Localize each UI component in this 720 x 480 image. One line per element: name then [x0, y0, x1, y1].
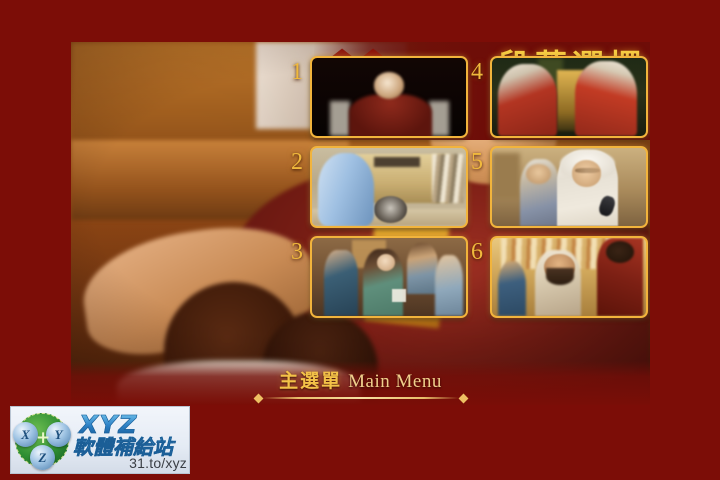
scene-3-number: 3 — [286, 240, 308, 264]
scene-2-number: 2 — [286, 150, 308, 174]
main-menu-label-chinese: 主選單 — [279, 366, 342, 393]
menu-underline-decoration — [255, 395, 467, 400]
scene-4-number: 4 — [466, 60, 488, 84]
scene-3-thumbnail[interactable] — [310, 236, 468, 318]
scene-4-thumbnail[interactable] — [490, 56, 648, 138]
scene-2-thumbnail[interactable] — [310, 146, 468, 228]
scene-1-thumbnail[interactable] — [310, 56, 468, 138]
logo-plus-icon: + — [36, 432, 49, 445]
scene-5-number: 5 — [466, 150, 488, 174]
watermark-badge: X Y Z + XYZ 軟體補給站 31.to/xyz — [10, 406, 190, 474]
scene-6-thumbnail[interactable] — [490, 236, 648, 318]
watermark-url: 31.to/xyz — [129, 455, 187, 471]
scene-5-thumbnail[interactable] — [490, 146, 648, 228]
main-menu-button[interactable]: 主選單 Main Menu — [71, 361, 650, 405]
scene-1-number: 1 — [286, 60, 308, 84]
main-menu-label-english: Main Menu — [348, 371, 442, 393]
scene-6-number: 6 — [466, 240, 488, 264]
menu-content-area: 段落選擇 Scene Selection 1 2 3 4 — [71, 42, 650, 405]
logo-ball-z: Z — [30, 445, 55, 470]
logo-ball-x: X — [13, 422, 38, 447]
xyz-logo-icon: X Y Z + — [11, 409, 73, 471]
dvd-menu-frame: 段落選擇 Scene Selection 1 2 3 4 — [0, 0, 720, 480]
